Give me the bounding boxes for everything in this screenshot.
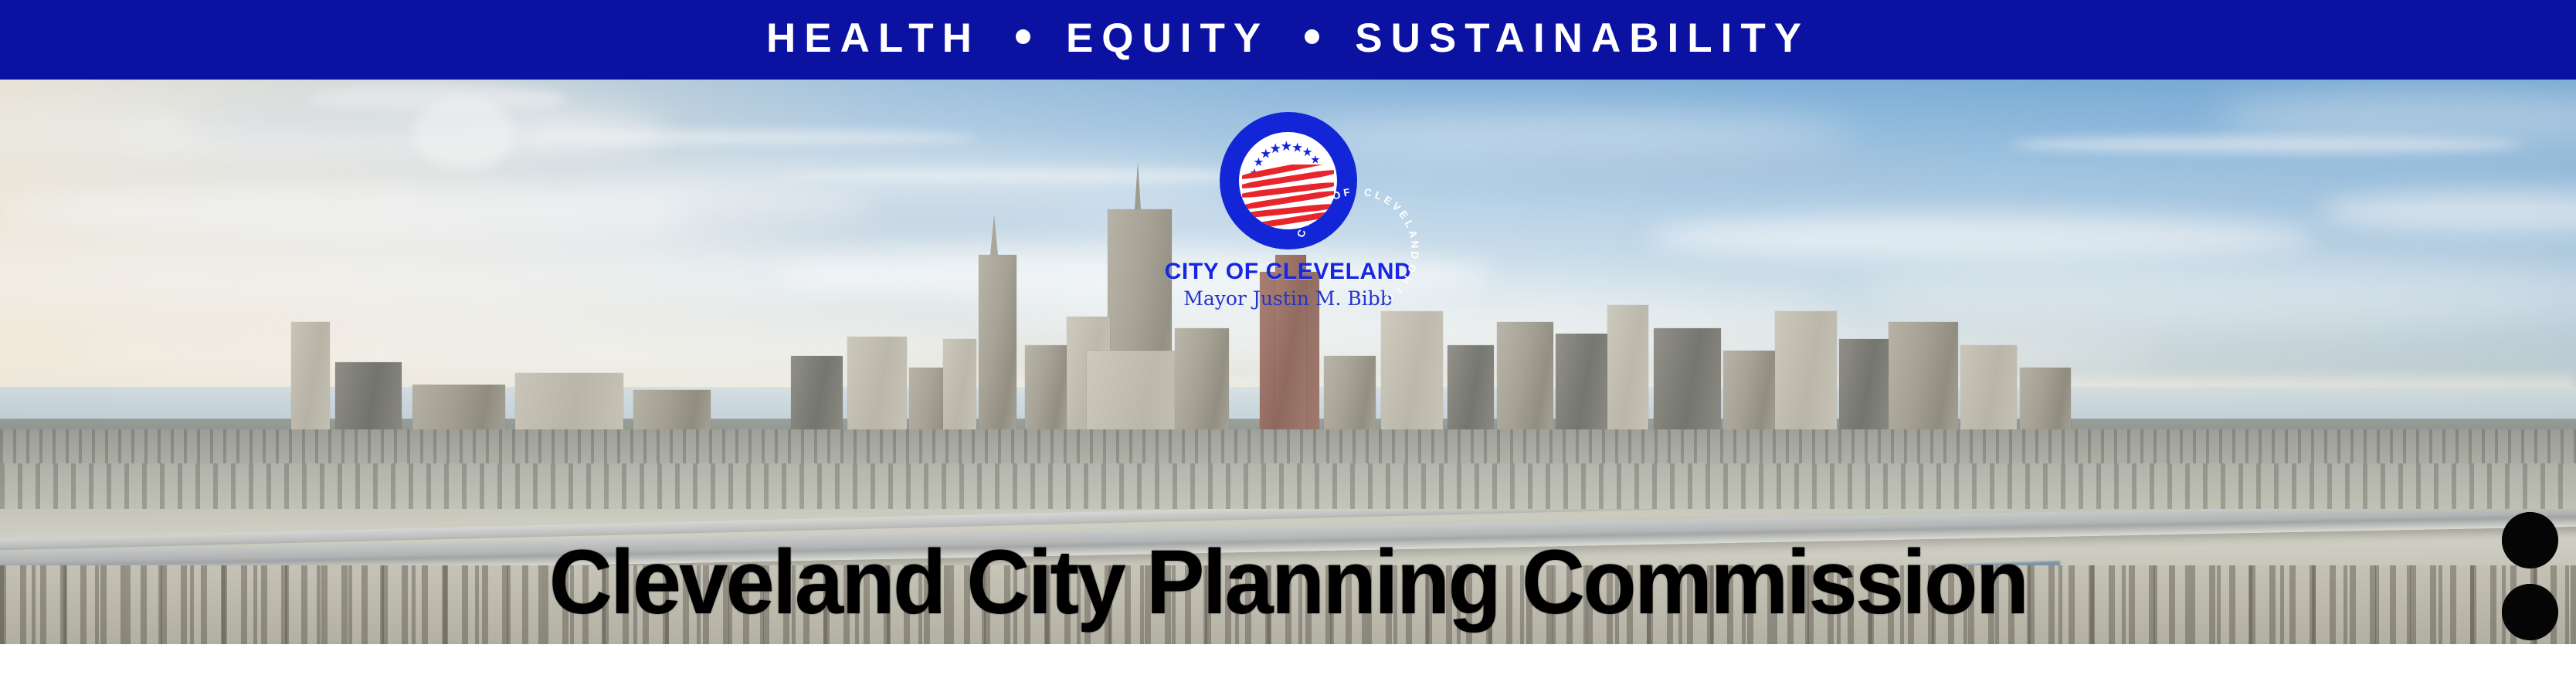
- terminal-tower: [979, 255, 1016, 441]
- bottom-white-strip: [0, 644, 2576, 682]
- building: [291, 322, 330, 441]
- tagline-banner-inner: HEALTH EQUITY SUSTAINABILITY: [766, 18, 1810, 59]
- building: [1556, 334, 1607, 441]
- building: [1654, 328, 1721, 441]
- seal-ring-letter: E: [1381, 194, 1393, 207]
- page-title: Cleveland City Planning Commission: [45, 537, 2530, 628]
- midground-texture: [0, 463, 2576, 508]
- youtube-icon[interactable]: [2502, 512, 2558, 568]
- building: [1448, 345, 1494, 441]
- seal-star-icon: ★: [1280, 140, 1292, 154]
- building: [1381, 311, 1443, 441]
- seal-flag-icon: [1242, 165, 1334, 227]
- seal-ring-letter: A: [1406, 229, 1419, 239]
- far-neighborhood-texture: [0, 429, 2576, 463]
- building: [1839, 339, 1888, 441]
- terminal-tower-spire: [990, 215, 998, 255]
- building: [791, 356, 843, 441]
- seal-inner-disc: ★★★★★★★★: [1239, 132, 1336, 229]
- building: [1175, 328, 1229, 441]
- seal-ring-letter: E: [1397, 209, 1410, 221]
- seal-ring-letter: F: [1342, 186, 1351, 198]
- building: [1324, 356, 1376, 441]
- hero-photo: CITYOFCLEVELANDOHIO ★★★★★★★★ CITY OF CLE…: [0, 80, 2576, 644]
- social-links-rail: [2502, 512, 2558, 644]
- seal-ring-letter: N: [1408, 240, 1420, 249]
- city-branding-lockup: CITYOFCLEVELANDOHIO ★★★★★★★★ CITY OF CLE…: [1088, 112, 1489, 309]
- seal-ring-letter: L: [1373, 189, 1383, 202]
- tagline-word-health: HEALTH: [766, 18, 980, 59]
- building: [1889, 322, 1958, 441]
- instagram-icon[interactable]: [2502, 584, 2558, 640]
- seal-ring-letter: C: [1295, 229, 1308, 239]
- building: [1607, 305, 1648, 440]
- building: [847, 337, 907, 441]
- bullet-dot-icon: [1305, 29, 1319, 44]
- building: [1497, 322, 1553, 441]
- city-of-cleveland-seal: CITYOFCLEVELANDOHIO ★★★★★★★★: [1220, 112, 1357, 249]
- seal-ring-letter: L: [1402, 219, 1415, 229]
- seal-ring-letter: C: [1363, 186, 1372, 199]
- building: [1775, 311, 1837, 441]
- city-name-label: CITY OF CLEVELAND: [1088, 260, 1489, 284]
- bullet-dot-icon: [1016, 29, 1030, 44]
- tagline-word-equity: EQUITY: [1066, 18, 1269, 59]
- building: [943, 339, 976, 441]
- tagline-word-sustainability: SUSTAINABILITY: [1355, 18, 1810, 59]
- tagline-banner: HEALTH EQUITY SUSTAINABILITY: [0, 0, 2576, 80]
- building: [1025, 345, 1066, 441]
- building: [1960, 345, 2017, 441]
- building: [1723, 351, 1775, 441]
- seal-ring-letter: D: [1408, 251, 1420, 260]
- mayor-name-label: Mayor Justin M. Bibb: [1088, 288, 1489, 310]
